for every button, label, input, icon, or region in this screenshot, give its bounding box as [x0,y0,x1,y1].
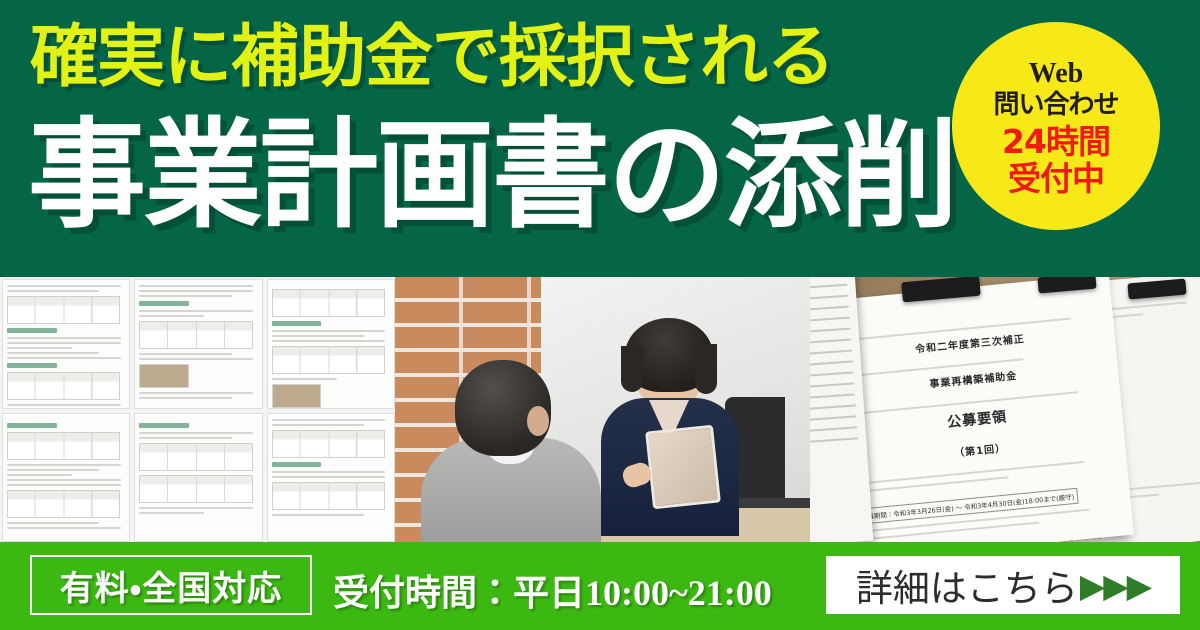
document-page [134,413,262,543]
guideline-documents-photo: 年度補正 ビス生産性向上促進補 要領 ーバル展開型） 切分） アカウント」の取得… [810,277,1200,542]
details-cta-button[interactable]: 詳細はこちら ▶▶▶ [826,556,1180,614]
badge-open-label: 受付中 [1008,161,1104,197]
headline-title: 事業計画書の添削 [28,116,956,234]
service-tag-label: 有料・全国対応 [60,561,283,610]
consultant-person [597,324,743,536]
document-page [267,279,395,409]
consultant-hair [625,318,713,392]
document-page [2,279,130,409]
triple-right-arrow-icon: ▶▶▶ [1080,569,1150,602]
scanned-documents-panel [0,277,395,542]
document-page [267,413,395,543]
badge-web-label: Web [1029,59,1083,89]
client-ear [527,406,549,436]
cta-label: 詳細はこちら [856,558,1078,612]
business-hours-label: 受付時間：平日10:00~21:00 [333,564,772,616]
document-page [134,279,262,409]
service-tag-badge: 有料・全国対応 [30,555,312,615]
tablet-device [645,425,721,510]
banner-footer: 有料・全国対応 受付時間：平日10:00~21:00 詳細はこちら ▶▶▶ [0,542,1200,630]
badge-hours-label: 24時間 [1002,124,1110,160]
document-column [2,279,130,542]
banner-header: 確実に補助金で採択される 事業計画書の添削 Web 問い合わせ 24時間 受付中 [0,0,1200,277]
document-page [2,413,130,543]
document-column [267,279,395,542]
web-inquiry-badge: Web 問い合わせ 24時間 受付中 [952,22,1160,230]
photo-strip: 年度補正 ビス生産性向上促進補 要領 ーバル展開型） 切分） アカウント」の取得… [0,277,1200,542]
client-person [421,360,601,542]
promo-banner: 確実に補助金で採択される 事業計画書の添削 Web 問い合わせ 24時間 受付中 [0,0,1200,630]
document-column [134,279,262,542]
consultation-photo [395,277,810,542]
badge-inquiry-label: 問い合わせ [993,91,1118,119]
headline-subtitle: 確実に補助金で採択される [30,24,834,92]
